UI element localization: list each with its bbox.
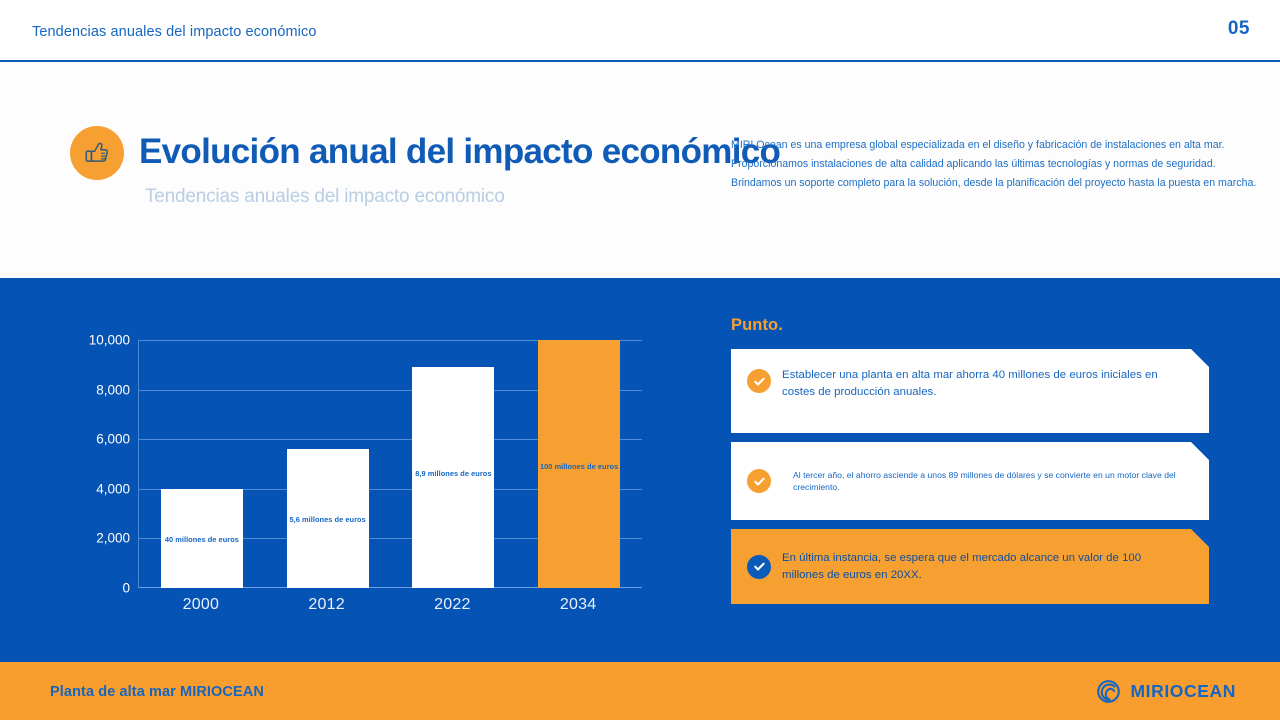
- points-panel: Punto. Establecer una planta en alta mar…: [731, 316, 1209, 613]
- point-text: En última instancia, se espera que el me…: [782, 550, 1183, 583]
- check-circle-icon: [747, 555, 771, 579]
- y-axis-tick: 2,000: [96, 531, 130, 546]
- hero-description-line: MIRI Ocean es una empresa global especia…: [731, 140, 1261, 151]
- bar-slot: 100 millones de euros: [538, 340, 620, 588]
- hero-description: MIRI Ocean es una empresa global especia…: [731, 140, 1261, 190]
- hero-section: Evolución anual del impacto económico Te…: [0, 62, 1280, 278]
- point-card-2[interactable]: Al tercer año, el ahorro asciende a unos…: [731, 442, 1209, 520]
- bar-2012[interactable]: 5,6 millones de euros: [287, 449, 369, 588]
- point-card-3[interactable]: En última instancia, se espera que el me…: [731, 529, 1209, 604]
- miriocean-spiral-logo-icon: [1096, 679, 1121, 704]
- y-axis-tick: 4,000: [96, 481, 130, 496]
- footer-bar: Planta de alta mar MIRIOCEAN MIRIOCEAN: [0, 662, 1280, 720]
- chart-plot-area: 40 millones de euros 5,6 millones de eur…: [138, 340, 642, 588]
- hero-description-line: Proporcionamos instalaciones de alta cal…: [731, 159, 1261, 170]
- brand-logo: MIRIOCEAN: [1096, 679, 1236, 704]
- bar-2000[interactable]: 40 millones de euros: [161, 489, 243, 588]
- bar-chart: 10,000 8,000 6,000 4,000 2,000 0 40 mill…: [62, 340, 642, 620]
- bar-2022[interactable]: 8,9 millones de euros: [412, 367, 494, 588]
- bar-slot: 8,9 millones de euros: [412, 340, 494, 588]
- y-axis-tick: 10,000: [89, 333, 130, 348]
- bar-value-label: 40 millones de euros: [165, 535, 239, 544]
- bar-2034[interactable]: 100 millones de euros: [538, 340, 620, 588]
- chart-x-axis: 2000 2012 2022 2034: [138, 590, 641, 620]
- point-card-1[interactable]: Establecer una planta en alta mar ahorra…: [731, 349, 1209, 433]
- hero-description-line: Brindamos un soporte completo para la so…: [731, 178, 1261, 189]
- x-axis-tick: 2012: [286, 596, 368, 614]
- content-section: 10,000 8,000 6,000 4,000 2,000 0 40 mill…: [0, 278, 1280, 662]
- hero-title: Evolución anual del impacto económico: [139, 132, 780, 172]
- chart-y-axis: 10,000 8,000 6,000 4,000 2,000 0: [62, 340, 130, 588]
- header-title: Tendencias anuales del impacto económico: [32, 24, 317, 40]
- brand-logo-text: MIRIOCEAN: [1130, 681, 1236, 702]
- footer-text: Planta de alta mar MIRIOCEAN: [50, 684, 264, 700]
- point-text: Al tercer año, el ahorro asciende a unos…: [793, 469, 1183, 493]
- y-axis-tick: 0: [122, 581, 130, 596]
- thumbs-up-icon: [70, 126, 124, 180]
- check-circle-icon: [747, 469, 771, 493]
- bar-slot: 5,6 millones de euros: [287, 340, 369, 588]
- page-number: 05: [1228, 18, 1250, 40]
- chart-bars: 40 millones de euros 5,6 millones de eur…: [139, 340, 642, 588]
- y-axis-tick: 6,000: [96, 432, 130, 447]
- bar-slot: 40 millones de euros: [161, 340, 243, 588]
- y-axis-tick: 8,000: [96, 382, 130, 397]
- bar-value-label: 100 millones de euros: [540, 462, 618, 471]
- x-axis-tick: 2034: [537, 596, 619, 614]
- slide: Tendencias anuales del impacto económico…: [0, 0, 1280, 720]
- point-text: Establecer una planta en alta mar ahorra…: [782, 367, 1183, 400]
- hero-subtitle: Tendencias anuales del impacto económico: [145, 186, 505, 208]
- bar-value-label: 5,6 millones de euros: [290, 515, 366, 524]
- check-circle-icon: [747, 369, 771, 393]
- top-header-bar: Tendencias anuales del impacto económico…: [0, 0, 1280, 62]
- x-axis-tick: 2022: [411, 596, 493, 614]
- x-axis-tick: 2000: [160, 596, 242, 614]
- bar-value-label: 8,9 millones de euros: [415, 469, 491, 478]
- points-heading: Punto.: [731, 316, 1209, 335]
